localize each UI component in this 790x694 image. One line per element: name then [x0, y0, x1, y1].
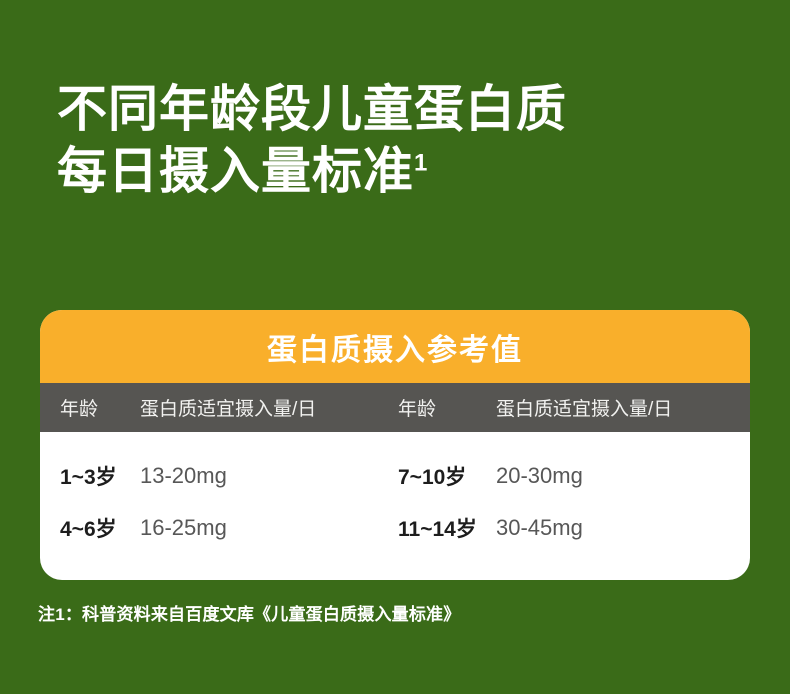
card-banner-title: 蛋白质摄入参考值	[267, 325, 523, 369]
table-row: 1~3岁 13-20mg 7~10岁 20-30mg	[40, 450, 750, 502]
cell-intake-right: 30-45mg	[496, 515, 730, 541]
cell-age-left: 1~3岁	[40, 461, 140, 491]
cell-intake-left: 16-25mg	[140, 515, 398, 541]
cell-intake-left: 13-20mg	[140, 463, 398, 489]
cell-age-right: 7~10岁	[398, 461, 496, 491]
table-column-header-row: 年龄 蛋白质适宜摄入量/日 年龄 蛋白质适宜摄入量/日	[40, 383, 750, 432]
column-header-intake-left: 蛋白质适宜摄入量/日	[140, 394, 398, 421]
card-banner: 蛋白质摄入参考值	[40, 310, 750, 383]
column-header-age-right: 年龄	[398, 394, 496, 421]
table-row: 4~6岁 16-25mg 11~14岁 30-45mg	[40, 502, 750, 554]
title-line-2-text: 每日摄入量标准	[57, 143, 414, 199]
column-header-age-left: 年龄	[40, 394, 140, 421]
title-line-1: 不同年龄段儿童蛋白质	[57, 78, 717, 140]
title-line-1-text: 不同年龄段儿童蛋白质	[57, 81, 567, 137]
column-header-intake-right: 蛋白质适宜摄入量/日	[496, 394, 730, 421]
cell-intake-right: 20-30mg	[496, 463, 730, 489]
page-title: 不同年龄段儿童蛋白质 每日摄入量标准1	[57, 78, 717, 202]
title-superscript: 1	[414, 149, 428, 176]
protein-reference-card: 蛋白质摄入参考值 年龄 蛋白质适宜摄入量/日 年龄 蛋白质适宜摄入量/日 1~3…	[40, 310, 750, 580]
table-body: 1~3岁 13-20mg 7~10岁 20-30mg 4~6岁 16-25mg …	[40, 432, 750, 580]
cell-age-right: 11~14岁	[398, 513, 496, 543]
footnote: 注1：科普资料来自百度文库《儿童蛋白质摄入量标准》	[38, 600, 460, 625]
title-line-2: 每日摄入量标准1	[57, 140, 717, 202]
cell-age-left: 4~6岁	[40, 513, 140, 543]
poster-root: 不同年龄段儿童蛋白质 每日摄入量标准1 蛋白质摄入参考值 年龄 蛋白质适宜摄入量…	[0, 0, 790, 694]
